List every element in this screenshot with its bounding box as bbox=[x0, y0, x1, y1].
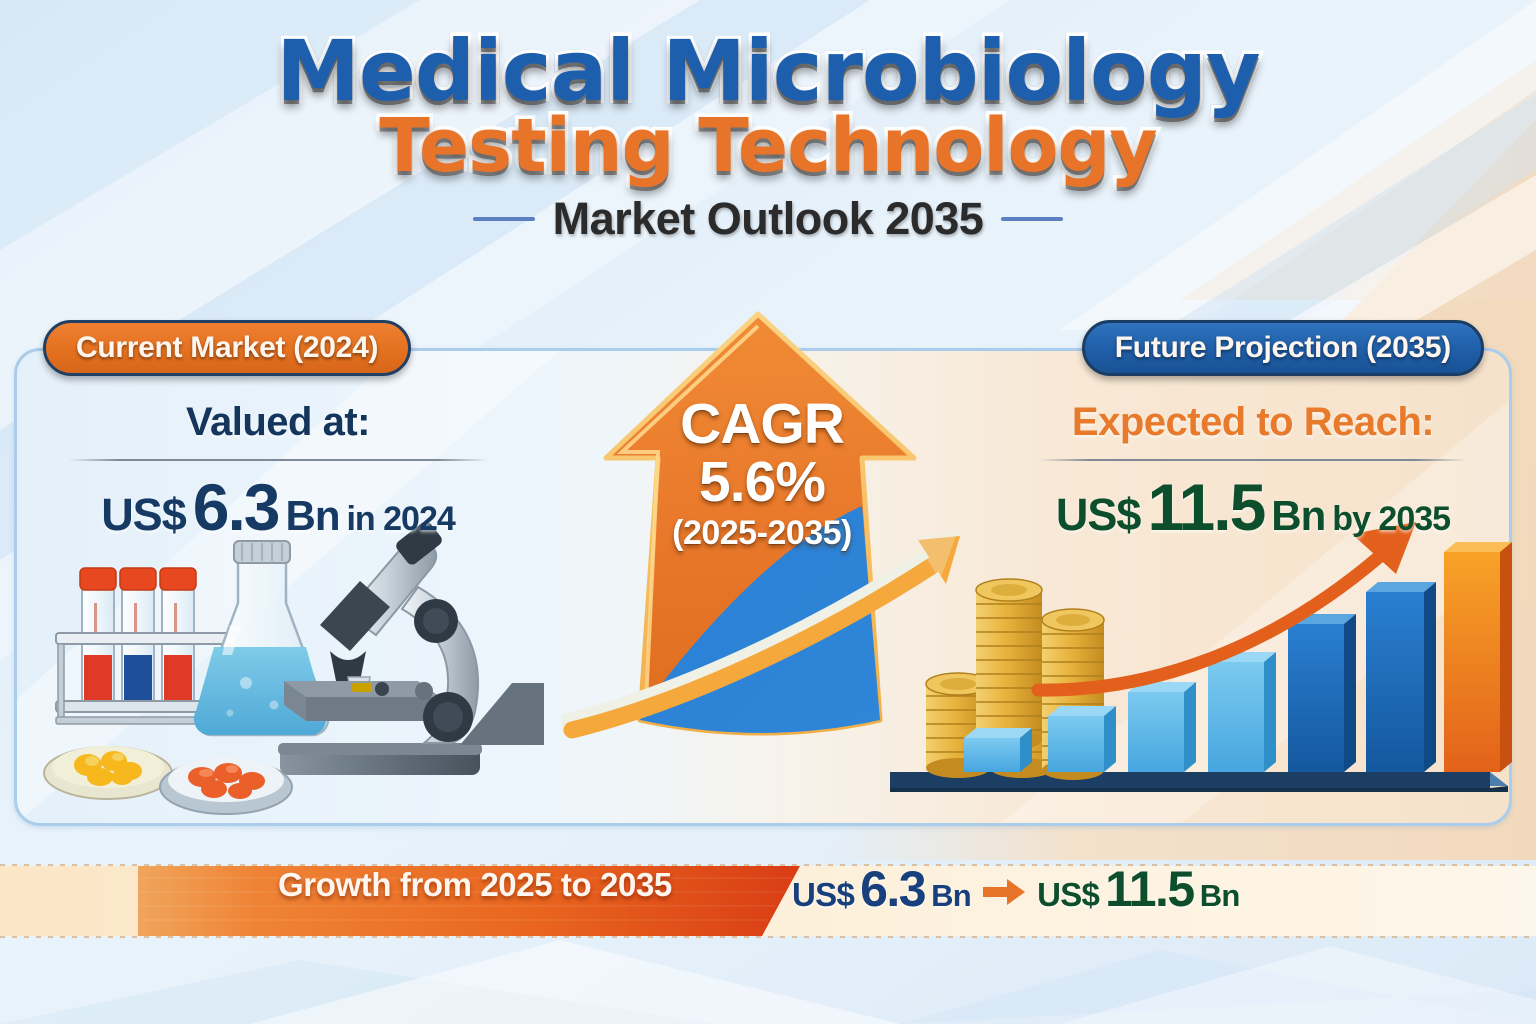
left-value-year: in 2024 bbox=[346, 500, 454, 539]
left-panel-text: Valued at: US$ 6.3 Bn in 2024 bbox=[28, 400, 528, 545]
banner-from-value: US$ 6.3 Bn bbox=[792, 860, 971, 918]
badge-current-market: Current Market (2024) bbox=[43, 320, 411, 376]
banner-to-value: US$ 11.5 Bn bbox=[1037, 860, 1240, 918]
cagr-label: CAGR bbox=[562, 395, 962, 453]
dash-right-icon bbox=[1001, 217, 1063, 221]
badge-future-projection: Future Projection (2035) bbox=[1082, 320, 1484, 376]
left-value-unit: Bn bbox=[285, 492, 339, 540]
left-value: US$ 6.3 Bn in 2024 bbox=[28, 469, 528, 545]
growth-bar-chart-illustration bbox=[880, 500, 1520, 820]
banner-to-currency: US$ bbox=[1037, 876, 1099, 914]
left-value-number: 6.3 bbox=[193, 469, 279, 545]
right-value-unit: Bn bbox=[1271, 492, 1325, 540]
subtitle-row: Market Outlook 2035 bbox=[0, 193, 1536, 245]
left-lead-label: Valued at: bbox=[28, 400, 528, 445]
growth-banner bbox=[0, 848, 1536, 952]
left-divider bbox=[68, 459, 488, 461]
right-lead-label: Expected to Reach: bbox=[998, 400, 1508, 445]
right-value-currency: US$ bbox=[1056, 489, 1141, 541]
cagr-text-block: CAGR 5.6% (2025-2035) bbox=[562, 395, 962, 553]
banner-to-unit: Bn bbox=[1200, 878, 1240, 914]
banner-from-currency: US$ bbox=[792, 876, 854, 914]
page-title-line2: Testing Technology bbox=[379, 109, 1156, 184]
right-arrow-icon bbox=[981, 877, 1027, 907]
banner-from-number: 6.3 bbox=[860, 860, 925, 918]
page-subtitle: Market Outlook 2035 bbox=[553, 193, 984, 245]
banner-to-number: 11.5 bbox=[1105, 860, 1194, 918]
left-value-currency: US$ bbox=[101, 489, 186, 541]
right-panel-text: Expected to Reach: US$ 11.5 Bn by 2035 bbox=[998, 400, 1508, 545]
banner-values: US$ 6.3 Bn US$ 11.5 Bn bbox=[792, 860, 1240, 918]
banner-from-unit: Bn bbox=[931, 878, 971, 914]
banner-label: Growth from 2025 to 2035 bbox=[278, 868, 672, 901]
dash-left-icon bbox=[473, 217, 535, 221]
cagr-period: (2025-2035) bbox=[562, 514, 962, 553]
page-title-line1: Medical Microbiology bbox=[276, 30, 1259, 113]
laboratory-illustration bbox=[30, 505, 590, 815]
cagr-value: 5.6% bbox=[562, 453, 962, 512]
right-divider bbox=[1039, 459, 1467, 461]
right-value-number: 11.5 bbox=[1147, 469, 1264, 545]
title-block: Medical Microbiology Testing Technology … bbox=[0, 30, 1536, 245]
right-value-year: by 2035 bbox=[1332, 500, 1450, 539]
right-value: US$ 11.5 Bn by 2035 bbox=[998, 469, 1508, 545]
